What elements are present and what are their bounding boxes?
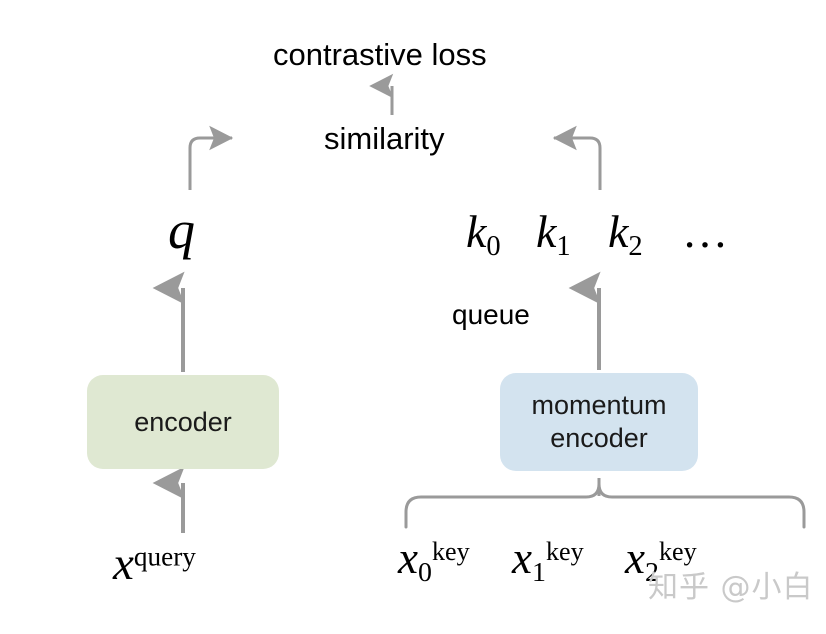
- x-key-symbol-1: x1key: [512, 533, 584, 588]
- key-symbol-1-subscript: 1: [556, 231, 570, 262]
- x-keys-brace: [406, 484, 804, 527]
- key-symbol-2-base: k: [608, 206, 628, 257]
- key-symbol-0-subscript: 0: [486, 231, 500, 262]
- momentum-encoder-label-line1: momentum: [531, 390, 666, 420]
- query-elbow-arrow: [190, 138, 232, 190]
- x-key-1-superscript: key: [546, 537, 584, 566]
- query-representation-symbol: q: [168, 200, 195, 260]
- x-query-superscript: query: [134, 541, 196, 571]
- x-key-0-subscript: 0: [418, 557, 432, 588]
- similarity-label: similarity: [324, 122, 445, 157]
- momentum-encoder-box-label: momentumencoder: [531, 389, 666, 455]
- moco-architecture-figure: contrastive loss similarity queue q k0 k…: [0, 0, 826, 634]
- keys-ellipsis: …: [682, 206, 728, 258]
- encoder-box[interactable]: encoder: [87, 375, 279, 469]
- momentum-encoder-label-line2: encoder: [550, 423, 648, 453]
- momentum-encoder-box[interactable]: momentumencoder: [500, 373, 698, 471]
- x-key-2-base: x: [625, 533, 645, 583]
- key-symbol-1-base: k: [536, 206, 556, 257]
- key-symbol-0-base: k: [466, 206, 486, 257]
- x-query-base: x: [113, 538, 134, 590]
- x-key-1-subscript: 1: [532, 557, 546, 588]
- contrastive-loss-label: contrastive loss: [273, 38, 487, 73]
- x-key-0-superscript: key: [432, 537, 470, 566]
- queue-label: queue: [452, 299, 530, 330]
- x-key-0-base: x: [398, 533, 418, 583]
- watermark: 知乎 @小白: [648, 562, 814, 606]
- x-query-symbol: xquery: [113, 538, 196, 591]
- key-symbol-1: k1: [536, 206, 571, 263]
- key-symbol-2: k2: [608, 206, 643, 263]
- key-symbol-2-subscript: 2: [628, 231, 642, 262]
- x-key-symbol-0: x0key: [398, 533, 470, 588]
- key-symbol-0: k0: [466, 206, 501, 263]
- encoder-box-label: encoder: [134, 407, 232, 438]
- x-key-1-base: x: [512, 533, 532, 583]
- key-elbow-arrow: [554, 138, 600, 190]
